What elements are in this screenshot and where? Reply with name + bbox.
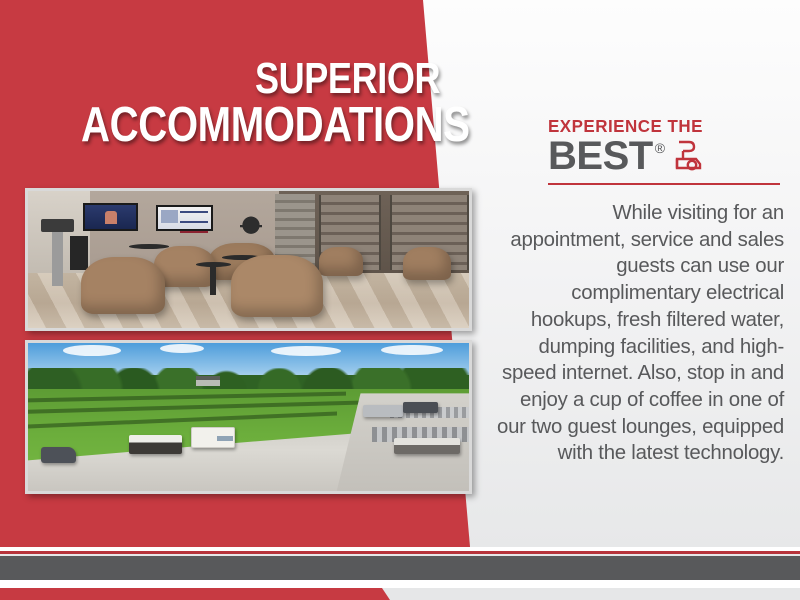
motorhome-dark: [129, 435, 182, 454]
side-table-2: [196, 262, 231, 267]
recliner-4: [231, 255, 324, 317]
television-left: [83, 203, 138, 230]
experience-the-best-logo: EXPERIENCE THE BEST ®: [548, 118, 780, 185]
bottom-red-line: [0, 551, 800, 554]
motorhome-right: [394, 438, 460, 454]
motorhome-white: [191, 427, 235, 448]
motorhome-far-1: [363, 405, 403, 417]
logo-wordmark-row: BEST ®: [548, 137, 780, 176]
rv-lot-photo: [25, 340, 472, 494]
page-title: SUPERIOR ACCOMMODATIONS: [81, 58, 450, 149]
lounge-scene: [28, 191, 469, 328]
farm-house: [196, 376, 220, 386]
rv-lot-scene: [28, 343, 469, 491]
cloud: [63, 345, 120, 357]
cloud: [271, 346, 342, 356]
headline-line-2: ACCOMMODATIONS: [81, 102, 440, 149]
sanitizer-stand: [52, 229, 63, 285]
headline-line-1: SUPERIOR: [81, 58, 440, 100]
guest-lounge-photo: [25, 188, 472, 331]
recliner-6: [403, 247, 452, 280]
poster-page: SUPERIOR ACCOMMODATIONS: [0, 0, 800, 600]
recliner-5: [319, 247, 363, 276]
bottom-gray-bar: [0, 556, 800, 580]
vehicle-suv: [41, 447, 76, 463]
logo-wordmark: BEST: [548, 137, 653, 175]
television-right: [156, 205, 213, 231]
bottom-white-bar: [0, 580, 800, 588]
logo-underline: [548, 183, 780, 185]
motorhome-far-2: [403, 402, 438, 412]
speaker: [70, 236, 88, 270]
registered-trademark-icon: ®: [655, 141, 665, 155]
cloud: [381, 345, 443, 356]
recliner-1: [81, 257, 165, 315]
cloud: [160, 344, 204, 353]
body-paragraph: While visiting for an appointment, servi…: [496, 200, 784, 467]
rv-motorhome-icon: [673, 139, 703, 176]
